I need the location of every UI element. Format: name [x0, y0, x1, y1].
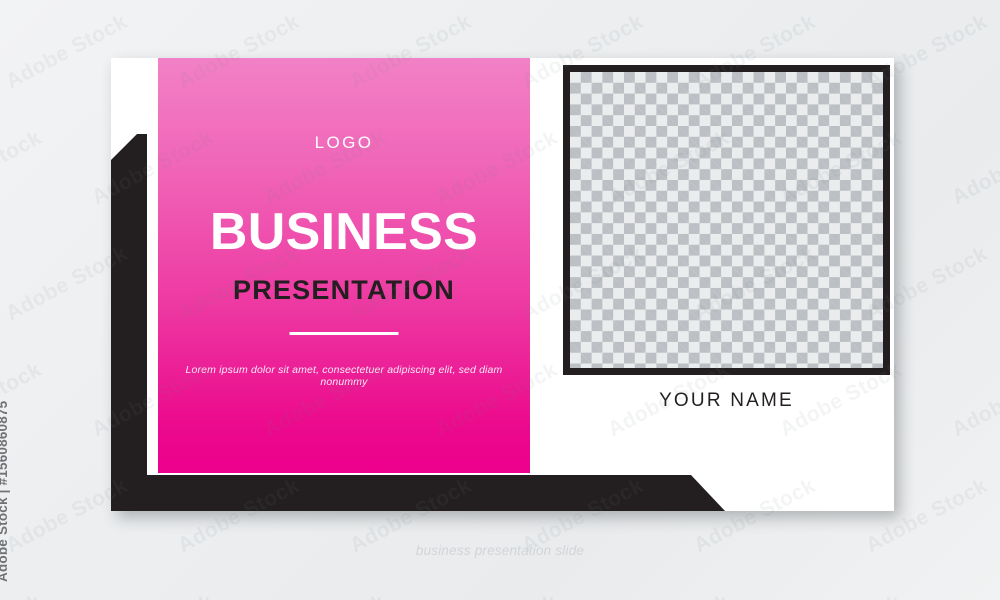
adobe-stock-id-label: Adobe Stock | #1560860875: [0, 401, 10, 582]
watermark-text: Adobe Stock: [948, 126, 1000, 210]
slide-lorem-text: Lorem ipsum dolor sit amet, consectetuer…: [158, 364, 530, 388]
transparency-checkerboard: [570, 72, 883, 368]
slide-title-sub: PRESENTATION: [158, 277, 530, 304]
logo-placeholder-text: LOGO: [158, 133, 530, 153]
watermark-text: Adobe Stock: [88, 590, 217, 600]
slide-left-black-bar: [111, 134, 147, 511]
watermark-text: Adobe Stock: [604, 590, 733, 600]
slide-pink-panel: LOGO BUSINESS PRESENTATION Lorem ipsum d…: [158, 58, 530, 473]
slide-title-main: BUSINESS: [158, 206, 530, 258]
title-divider-rule: [290, 332, 399, 335]
stock-image-canvas: LOGO BUSINESS PRESENTATION Lorem ipsum d…: [0, 0, 1000, 600]
watermark-text: Adobe Stock: [948, 590, 1000, 600]
presentation-slide: LOGO BUSINESS PRESENTATION Lorem ipsum d…: [111, 58, 894, 511]
watermark-text: Adobe Stock: [432, 590, 561, 600]
your-name-text: YOUR NAME: [563, 390, 890, 412]
watermark-text: Adobe Stock: [948, 358, 1000, 442]
watermark-text: Adobe Stock: [776, 590, 905, 600]
watermark-text: Adobe Stock: [0, 126, 46, 210]
slide-bottom-black-bar: [111, 475, 725, 511]
stock-bottom-caption: business presentation slide: [0, 543, 1000, 558]
watermark-text: Adobe Stock: [0, 590, 46, 600]
image-placeholder-frame: [563, 65, 890, 375]
watermark-text: Adobe Stock: [260, 590, 389, 600]
